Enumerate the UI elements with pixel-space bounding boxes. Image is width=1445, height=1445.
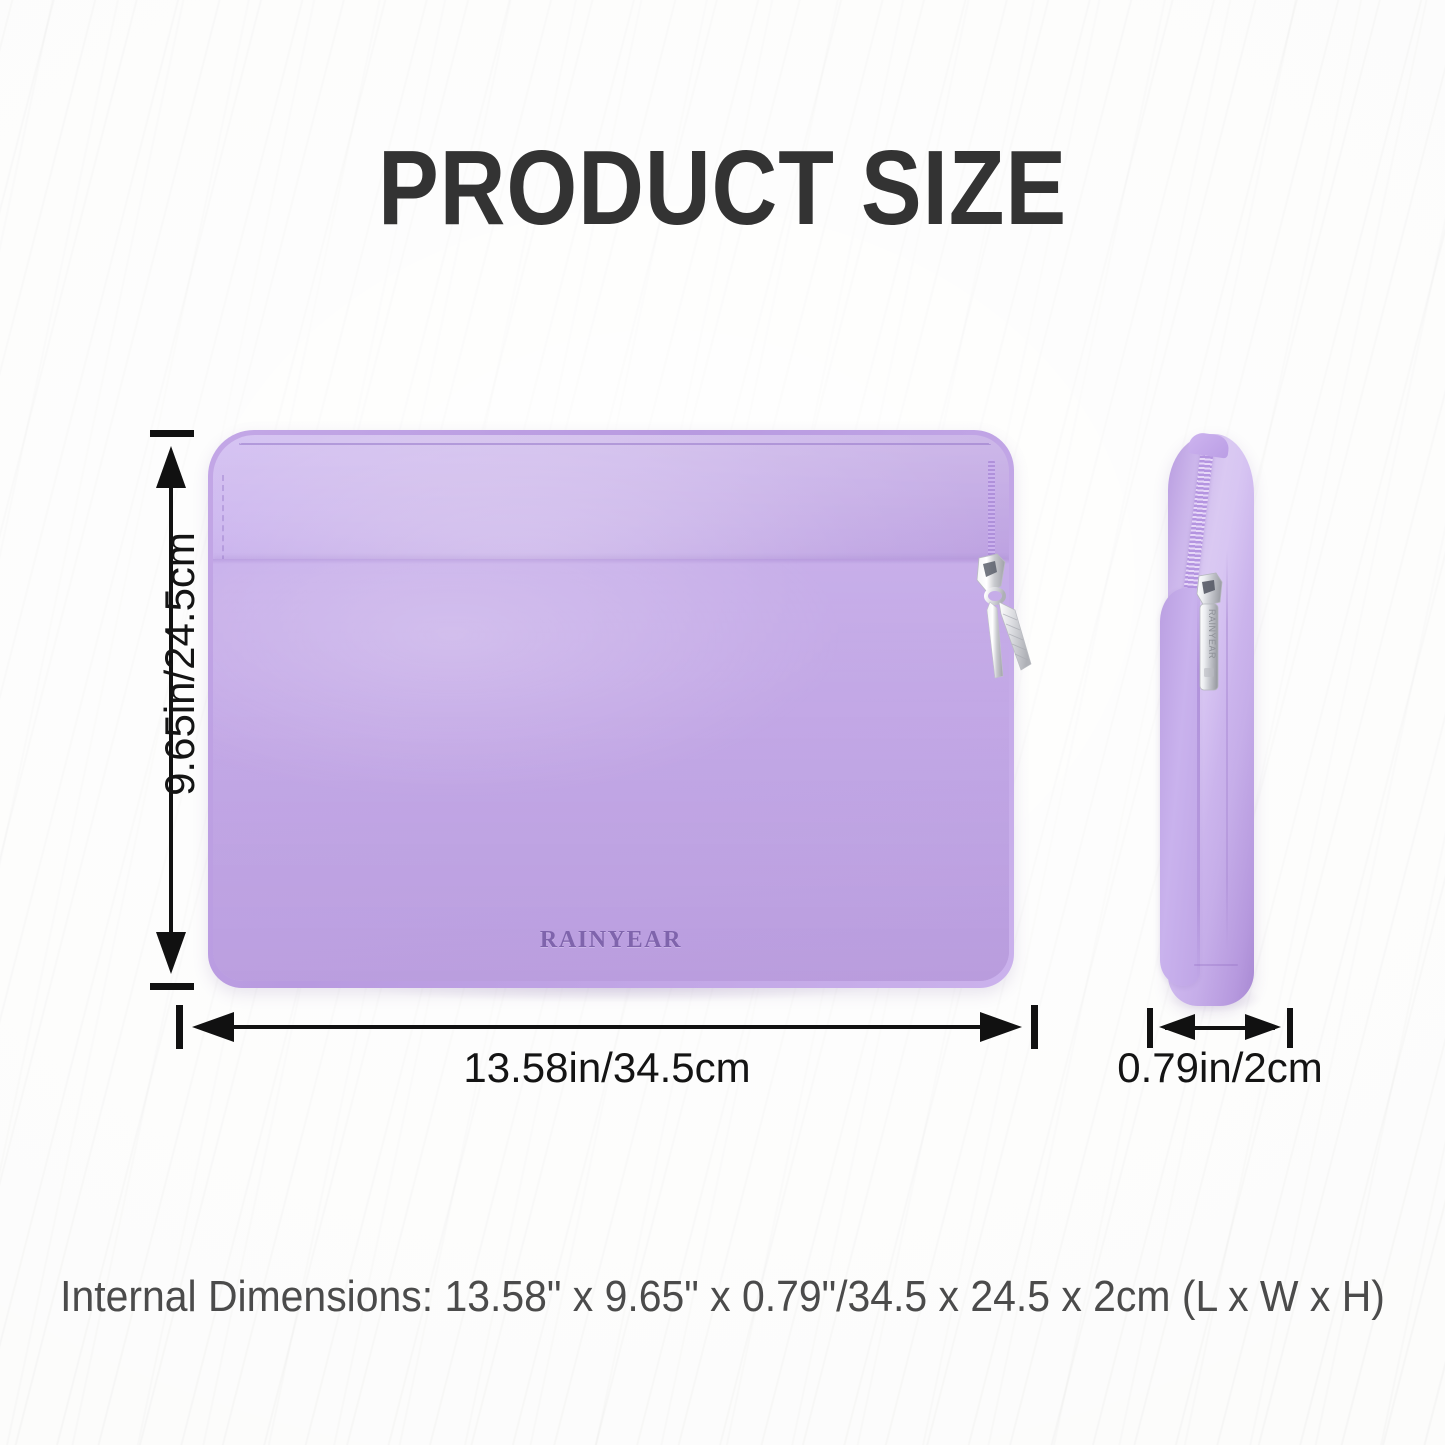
depth-tick-right [1287, 1008, 1293, 1048]
width-tick-right [1031, 1005, 1038, 1049]
width-arrowhead-right [980, 1012, 1022, 1042]
product-size-infographic: PRODUCT SIZE RAINYEAR [0, 0, 1445, 1445]
svg-text:RAINYEAR: RAINYEAR [1207, 609, 1217, 659]
depth-tick-left [1147, 1008, 1153, 1048]
height-dimension-label: 9.65in/24.5cm [156, 474, 204, 854]
sleeve-zipper-track [988, 459, 995, 571]
sleeve-front-pocket [213, 559, 1009, 981]
sleeve-body-panel: RAINYEAR [213, 435, 1009, 981]
height-arrowhead-down [156, 932, 186, 974]
sleeve-back-panel [213, 435, 1009, 563]
side-zipper-pull-icon: RAINYEAR [1196, 572, 1226, 696]
width-dimension-label: 13.58in/34.5cm [176, 1044, 1038, 1092]
laptop-sleeve-front-view: RAINYEAR [208, 430, 1014, 988]
width-tick-left [176, 1005, 183, 1049]
height-tick-bottom [150, 983, 194, 990]
side-sleeve-bottom-crease [1194, 964, 1238, 966]
height-tick-top [150, 430, 194, 437]
depth-arrowhead-right [1245, 1014, 1281, 1040]
side-sleeve-seam [1226, 550, 1228, 950]
page-title: PRODUCT SIZE [101, 128, 1344, 249]
laptop-sleeve-side-view: RAINYEAR [1160, 430, 1260, 1006]
side-sleeve-front-flap [1160, 588, 1200, 986]
brand-logo-text: RAINYEAR [213, 927, 1009, 954]
width-arrow-shaft [198, 1025, 1016, 1029]
sleeve-pocket-sheen [213, 559, 1009, 981]
sleeve-top-stitch-line [239, 443, 991, 445]
depth-dimension-label: 0.79in/2cm [1030, 1044, 1410, 1092]
internal-dimensions-caption: Internal Dimensions: 13.58" x 9.65" x 0.… [51, 1272, 1395, 1322]
side-zipper-pull: RAINYEAR [1196, 572, 1222, 692]
